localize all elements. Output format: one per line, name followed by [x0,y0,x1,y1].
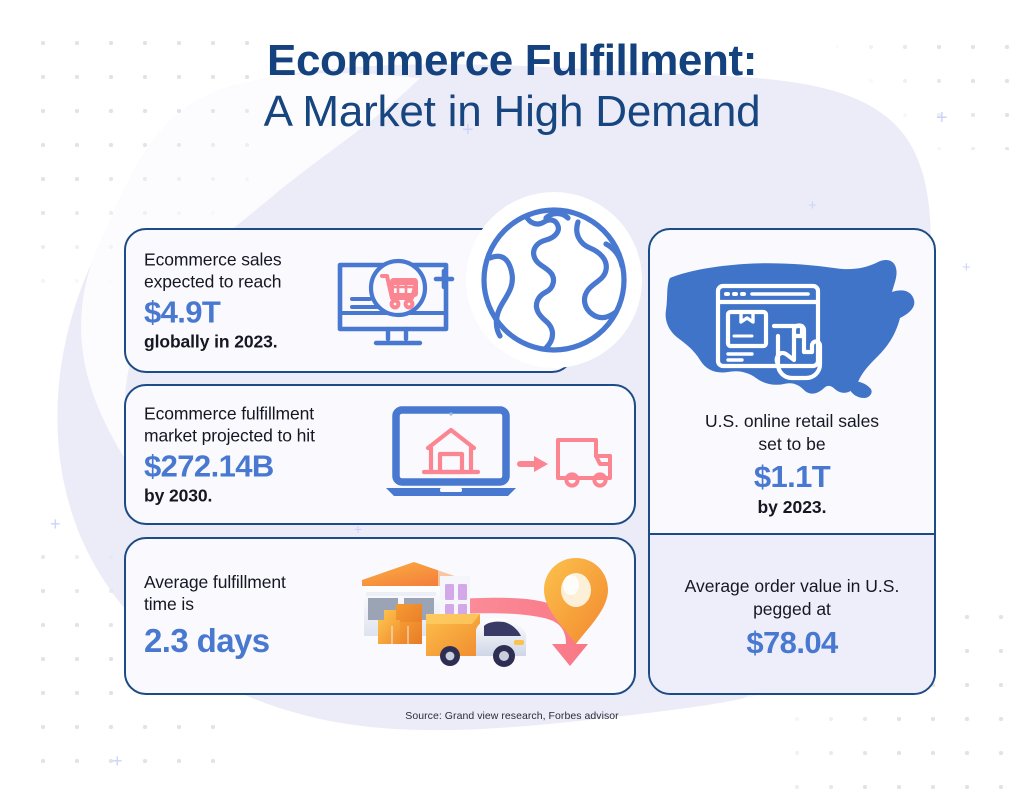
stat-card-fulfillment-market[interactable]: Ecommerce fulfillment market projected t… [124,384,636,525]
title-line-2: A Market in High Demand [0,85,1024,139]
stat-lead-line-2: time is [144,594,286,616]
right-panel-top-text: U.S. online retail sales set to be $1.1T… [650,410,934,519]
title-line-1: Ecommerce Fulfillment: [0,36,1024,85]
stat-value: $1.1T [666,458,918,497]
stat-lead-line-1: U.S. online retail sales [666,410,918,433]
stat-card-text: Ecommerce fulfillment market projected t… [144,402,315,507]
stat-value: $78.04 [666,624,918,663]
source-citation: Source: Grand view research, Forbes advi… [0,710,1024,722]
stat-lead-line-1: Average fulfillment [144,571,286,593]
stat-value: $4.9T [144,295,282,332]
right-stat-panel[interactable]: U.S. online retail sales set to be $1.1T… [648,228,936,695]
stat-card-ecommerce-sales[interactable]: Ecommerce sales expected to reach $4.9T … [124,228,574,373]
stat-tail: by 2030. [144,485,315,507]
stat-tail: globally in 2023. [144,331,282,353]
stat-card-text: Ecommerce sales expected to reach $4.9T … [144,248,282,353]
stat-card-fulfillment-time[interactable]: Average fulfillment time is 2.3 days [124,537,636,695]
stat-lead-line-1: Ecommerce fulfillment [144,402,315,424]
stat-lead-line-2: pegged at [666,598,918,621]
right-panel-bottom-text: Average order value in U.S. pegged at $7… [650,575,934,662]
stat-lead-line-1: Average order value in U.S. [666,575,918,598]
stat-value: $272.14B [144,449,315,486]
stat-lead-line-2: set to be [666,433,918,456]
stat-tail: by 2023. [666,497,918,519]
infographic-canvas: + + + + + + + + Ecommerce Fulfillment: A… [0,0,1024,796]
page-title: Ecommerce Fulfillment: A Market in High … [0,36,1024,139]
right-panel-bottom-section[interactable]: Average order value in U.S. pegged at $7… [650,535,934,695]
stat-lead-line-2: market projected to hit [144,424,315,446]
stat-lead-line-1: Ecommerce sales [144,248,282,270]
right-panel-top-section[interactable]: U.S. online retail sales set to be $1.1T… [650,230,934,535]
stat-card-text: Average fulfillment time is 2.3 days [144,571,286,661]
stat-lead-line-2: expected to reach [144,270,282,292]
stat-value: 2.3 days [144,622,286,661]
